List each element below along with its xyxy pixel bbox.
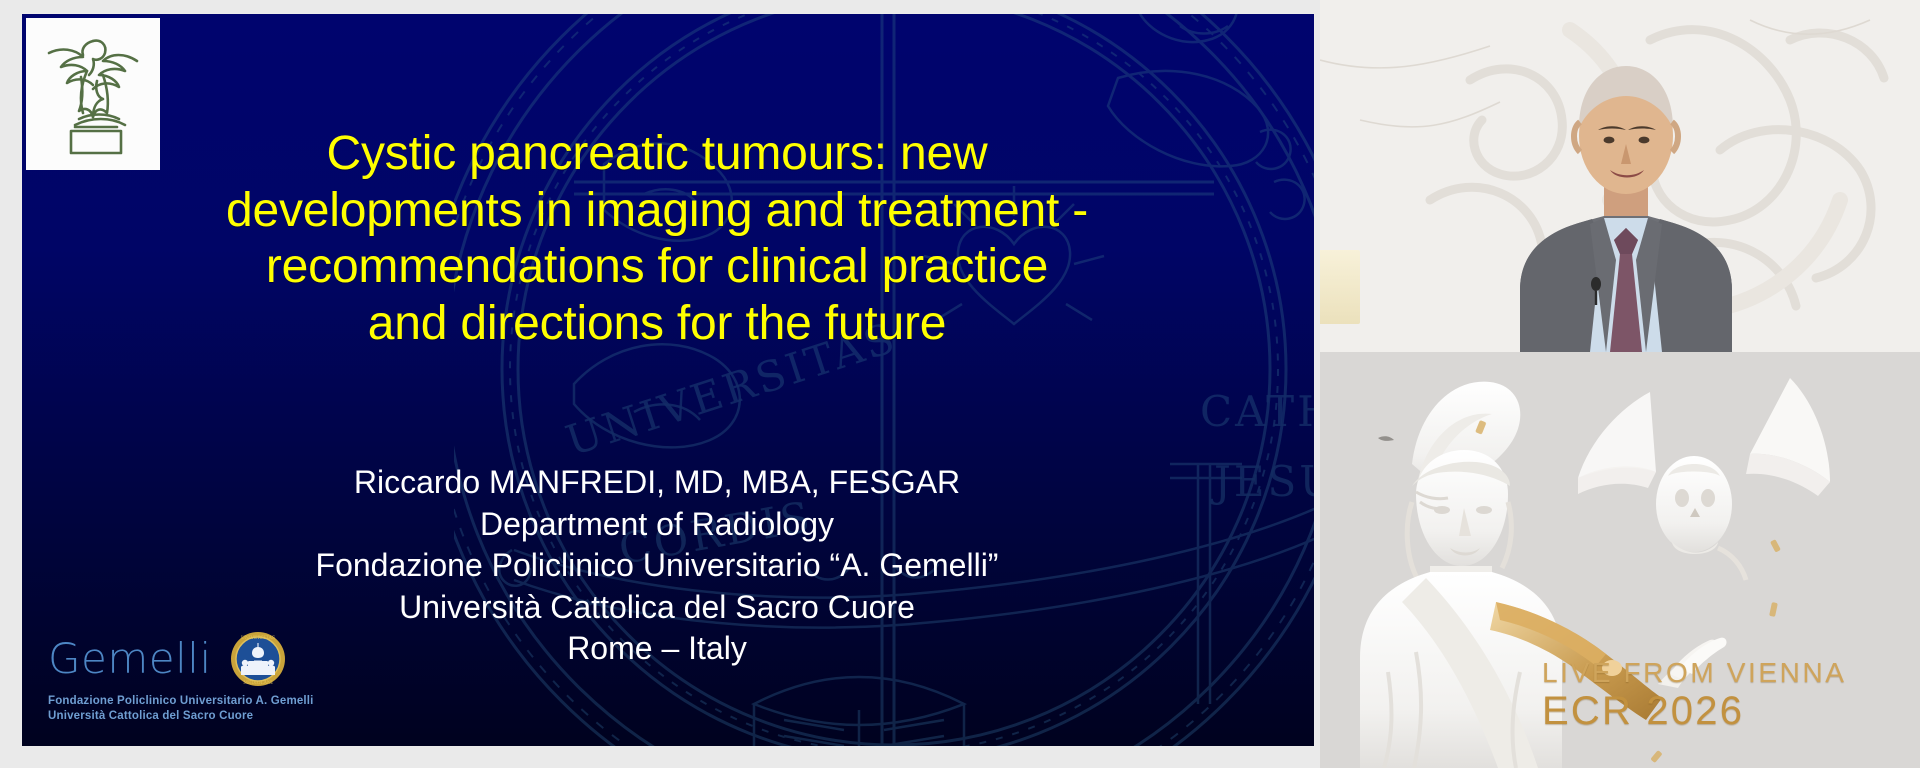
speaker-webcam-feed[interactable]	[1320, 0, 1920, 352]
slide-title: Cystic pancreatic tumours: new developme…	[62, 126, 1252, 353]
right-panel: LIVE FROM VIENNA ECR 2026	[1320, 0, 1920, 768]
event-branding-text: LIVE FROM VIENNA ECR 2026	[1542, 658, 1902, 732]
author-institution: Fondazione Policlinico Universitario “A.…	[62, 545, 1252, 587]
gemelli-logo-lockup: Gemelli	[48, 631, 338, 724]
screen-root: UNIVERSITAS CORDIS CATH JESU MEDIOLANI	[0, 0, 1920, 768]
svg-text:CATH: CATH	[1200, 387, 1314, 436]
candle-decor	[1320, 250, 1360, 324]
slide-title-line: and directions for the future	[62, 296, 1252, 353]
event-branding-panel: LIVE FROM VIENNA ECR 2026	[1320, 352, 1920, 768]
gemelli-subtitle-line-2: Università Cattolica del Sacro Cuore	[48, 709, 338, 724]
gemelli-subtitle-line-1: Fondazione Policlinico Universitario A. …	[48, 694, 338, 709]
slide-title-line: recommendations for clinical practice	[62, 239, 1252, 296]
svg-text:MEDIOLANI: MEDIOLANI	[243, 680, 273, 686]
presentation-slide[interactable]: UNIVERSITAS CORDIS CATH JESU MEDIOLANI	[22, 14, 1314, 746]
gemelli-wordmark: Gemelli	[48, 638, 212, 680]
ecr-2026-label: ECR 2026	[1542, 690, 1902, 732]
gemelli-logo-row: Gemelli	[48, 631, 338, 687]
slide-title-line: developments in imaging and treatment -	[62, 183, 1252, 240]
presenter-figure	[1500, 52, 1752, 352]
gemelli-subtitle: Fondazione Policlinico Universitario A. …	[48, 694, 338, 724]
author-department: Department of Radiology	[62, 504, 1252, 546]
live-from-vienna-label: LIVE FROM VIENNA	[1542, 658, 1902, 688]
svg-text:UNIVERSITAS: UNIVERSITAS	[241, 635, 275, 641]
sacred-heart-university-crest-icon: UNIVERSITAS MEDIOLANI	[230, 631, 286, 687]
slide-title-line: Cystic pancreatic tumours: new	[62, 126, 1252, 183]
author-name: Riccardo MANFREDI, MD, MBA, FESGAR	[62, 462, 1252, 504]
author-university: Università Cattolica del Sacro Cuore	[62, 587, 1252, 629]
